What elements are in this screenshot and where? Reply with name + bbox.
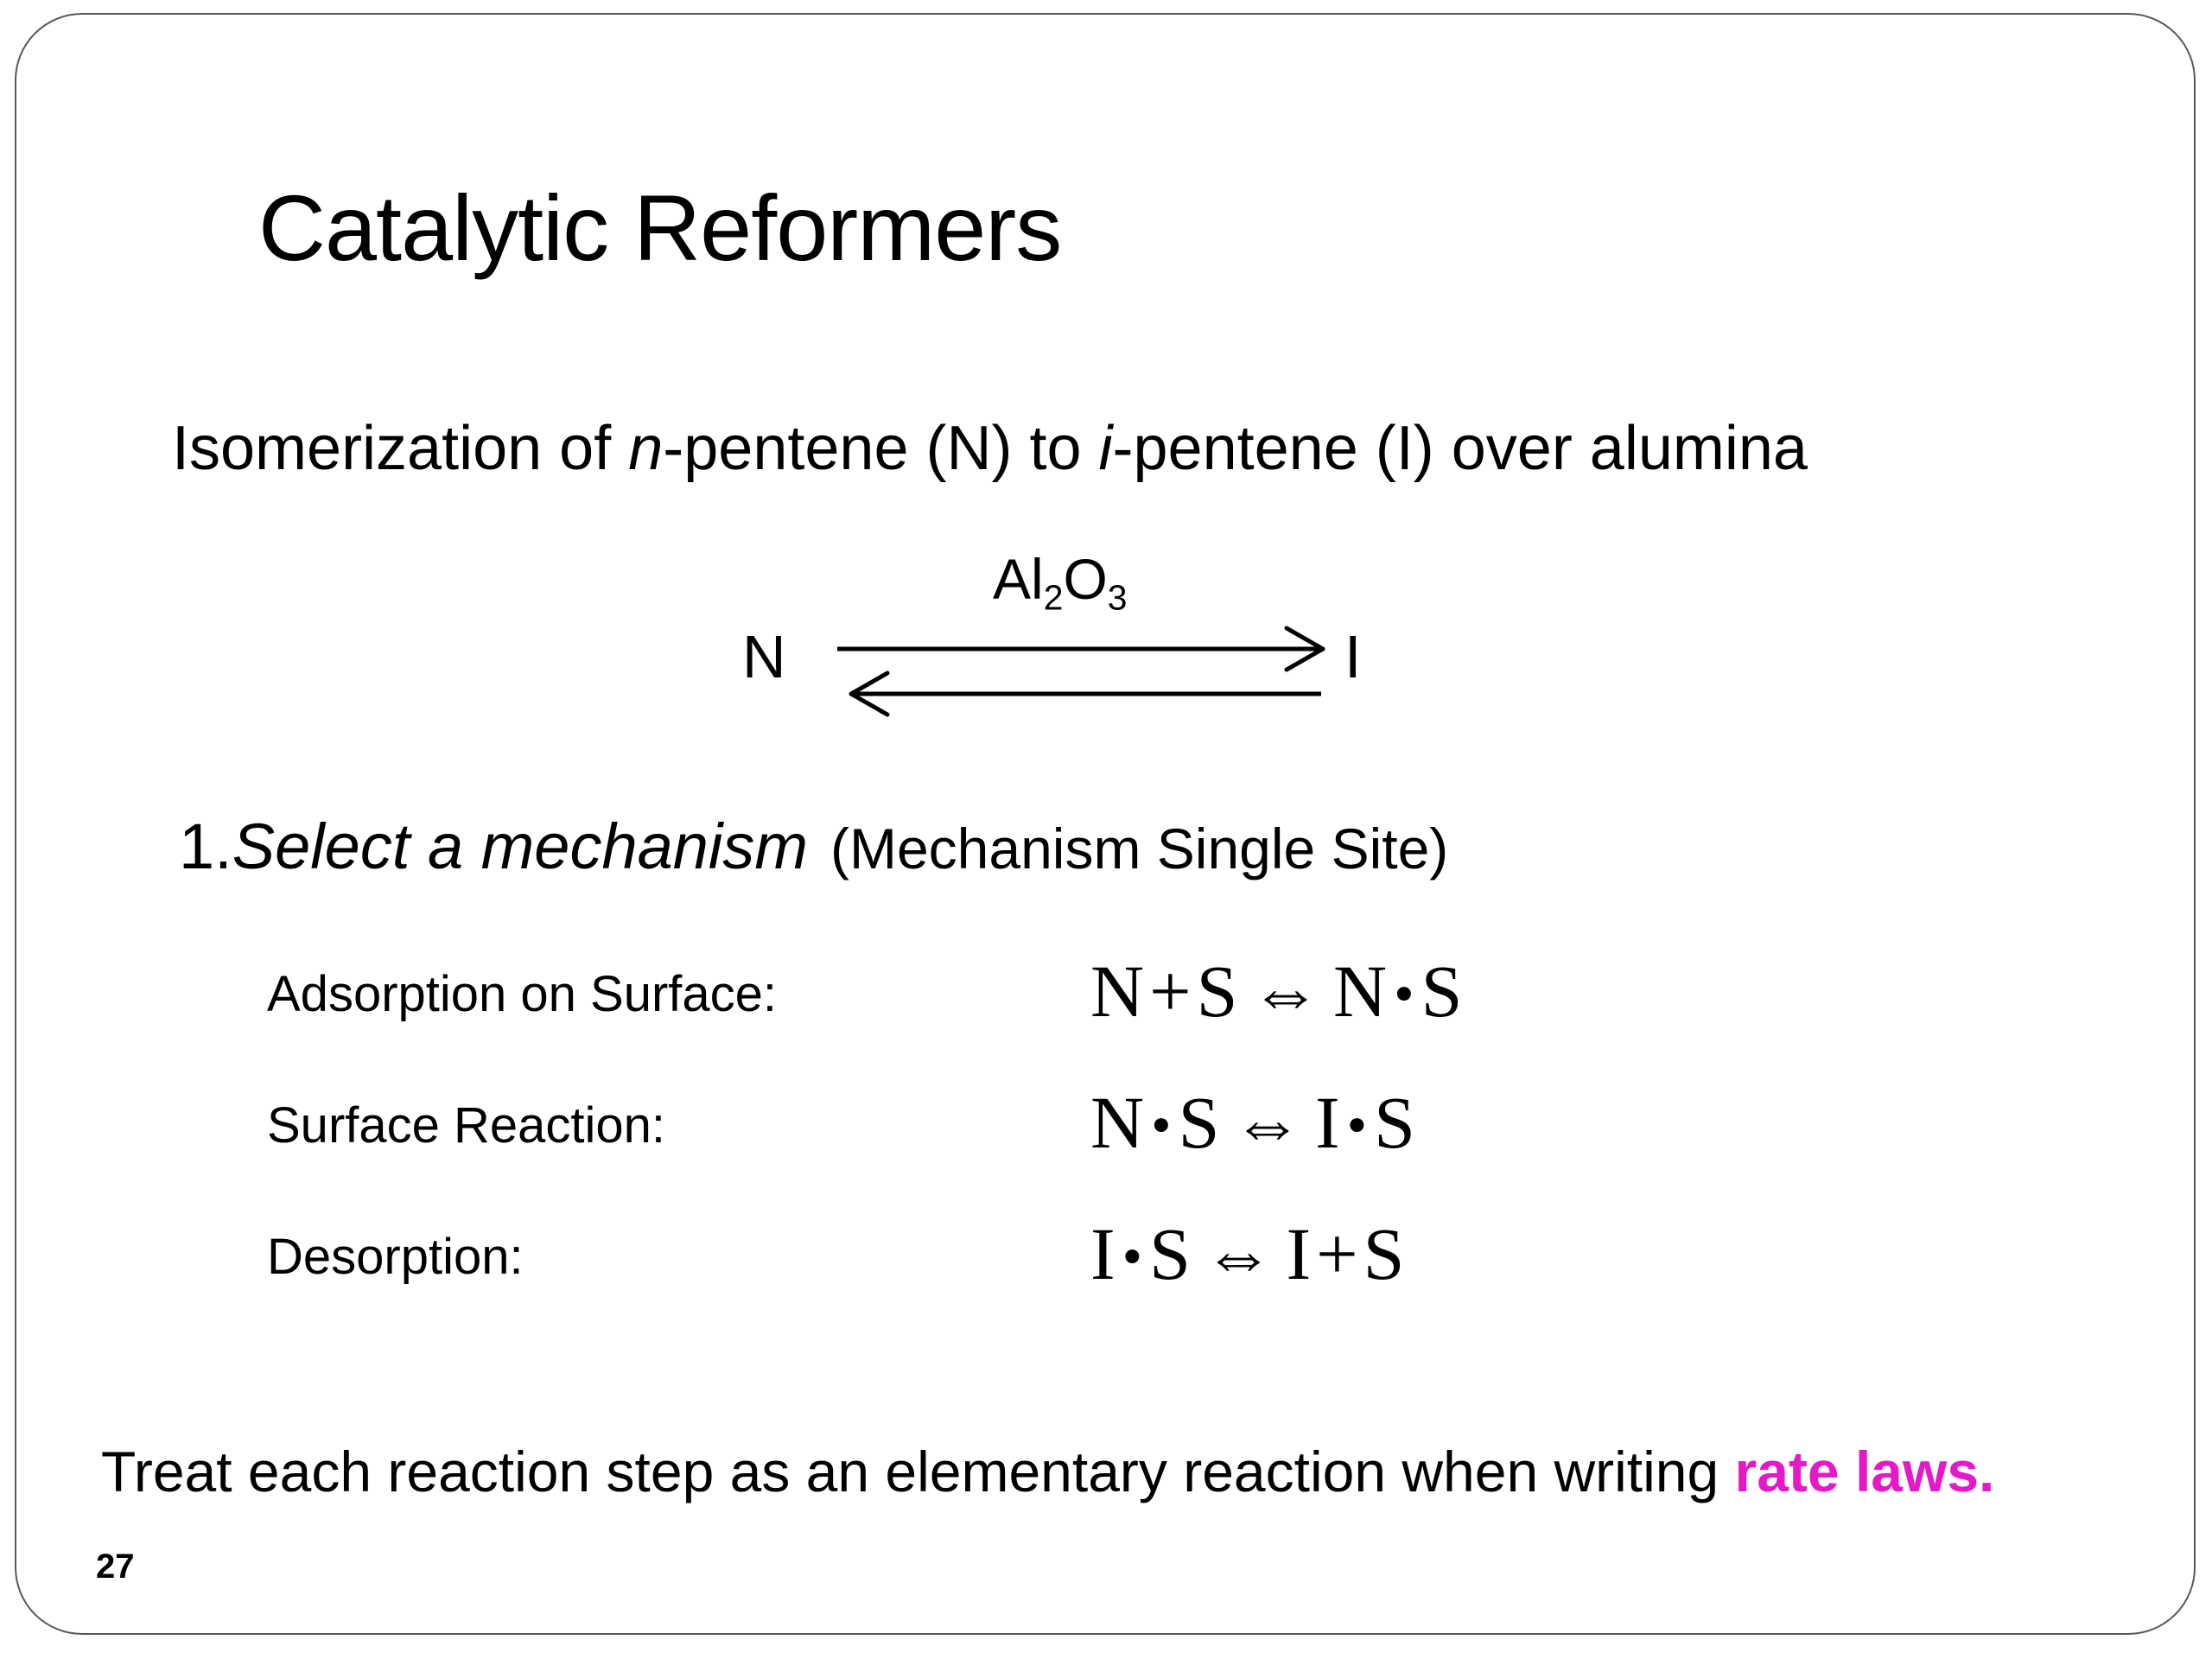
step-parenthetical: (Mechanism Single Site) xyxy=(808,817,1448,880)
step-heading: 1.Select a mechanism(Mechanism Single Si… xyxy=(179,815,1448,879)
page-title: Catalytic Reformers xyxy=(258,181,1061,275)
subtitle-text: Isomerization of n-pentene (N) to i-pent… xyxy=(172,417,1808,480)
operator-1: • xyxy=(1116,1224,1149,1288)
subtitle-italic-i: i xyxy=(1099,414,1113,483)
operator-2: • xyxy=(1340,1092,1374,1157)
forward-arrow-icon xyxy=(837,628,1323,670)
species-left-b: S xyxy=(1197,950,1238,1033)
equilibrium-arrows xyxy=(837,625,1338,724)
mechanism-step-list: Adsorption on Surface: N+S⇔N•S Surface R… xyxy=(16,961,2194,1355)
species-left-a: N xyxy=(1090,1081,1144,1164)
mechanism-label-surface-reaction: Surface Reaction: xyxy=(267,1101,665,1151)
species-right-a: N xyxy=(1333,950,1387,1033)
mechanism-equation-desorption: I•S⇔I+S xyxy=(1090,1217,1405,1291)
equilibrium-arrow-icon: ⇔ xyxy=(1219,1084,1315,1163)
operator-2: • xyxy=(1387,961,1421,1026)
species-right-a: I xyxy=(1287,1212,1312,1295)
reaction-scheme: N Al2O3 I xyxy=(742,550,1399,723)
operator-2: + xyxy=(1311,1212,1363,1295)
subtitle-part1: Isomerization of xyxy=(172,414,628,483)
subtitle-italic-n: n xyxy=(628,414,663,483)
slide-frame: Catalytic Reformers Isomerization of n-p… xyxy=(15,13,2196,1635)
equilibrium-arrow-icon: ⇔ xyxy=(1237,952,1333,1032)
reaction-product-label: I xyxy=(1344,626,1361,687)
species-left-a: N xyxy=(1090,950,1144,1033)
species-right-b: S xyxy=(1421,950,1463,1033)
subtitle-part3: -pentene (I) over alumina xyxy=(1113,414,1808,483)
mechanism-equation-adsorption: N+S⇔N•S xyxy=(1090,954,1462,1028)
catalyst-subscript-3: 3 xyxy=(1108,577,1128,617)
species-right-b: S xyxy=(1363,1212,1405,1295)
list-item: Adsorption on Surface: N+S⇔N•S xyxy=(16,961,2194,1092)
mechanism-equation-surface-reaction: N•S⇔I•S xyxy=(1090,1085,1415,1160)
footer-note: Treat each reaction step as an elementar… xyxy=(101,1443,1994,1500)
step-number: 1. xyxy=(179,810,232,882)
step-title: Select a mechanism xyxy=(232,810,808,882)
species-right-a: I xyxy=(1315,1081,1340,1164)
reaction-reactant-label: N xyxy=(742,626,786,687)
mechanism-label-desorption: Desorption: xyxy=(267,1232,524,1282)
catalyst-subscript-2: 2 xyxy=(1044,577,1064,617)
catalyst-al: Al xyxy=(993,547,1044,611)
mechanism-label-adsorption: Adsorption on Surface: xyxy=(267,969,777,1020)
list-item: Desorption: I•S⇔I+S xyxy=(16,1224,2194,1355)
operator-1: • xyxy=(1144,1092,1178,1157)
species-right-b: S xyxy=(1374,1081,1415,1164)
subtitle-part2: -pentene (N) to xyxy=(663,414,1098,483)
footer-note-text: Treat each reaction step as an elementar… xyxy=(101,1440,1735,1503)
species-left-b: S xyxy=(1179,1081,1220,1164)
footer-accent-text: rate laws. xyxy=(1735,1440,1995,1503)
equilibrium-arrow-icon: ⇔ xyxy=(1191,1215,1287,1294)
reaction-catalyst-label: Al2O3 xyxy=(993,550,1128,615)
operator-1: + xyxy=(1144,950,1197,1033)
list-item: Surface Reaction: N•S⇔I•S xyxy=(16,1092,2194,1224)
reverse-arrow-icon xyxy=(851,673,1321,715)
page-number: 27 xyxy=(96,1549,135,1584)
species-left-b: S xyxy=(1149,1212,1191,1295)
catalyst-o: O xyxy=(1063,547,1107,611)
species-left-a: I xyxy=(1090,1212,1116,1295)
